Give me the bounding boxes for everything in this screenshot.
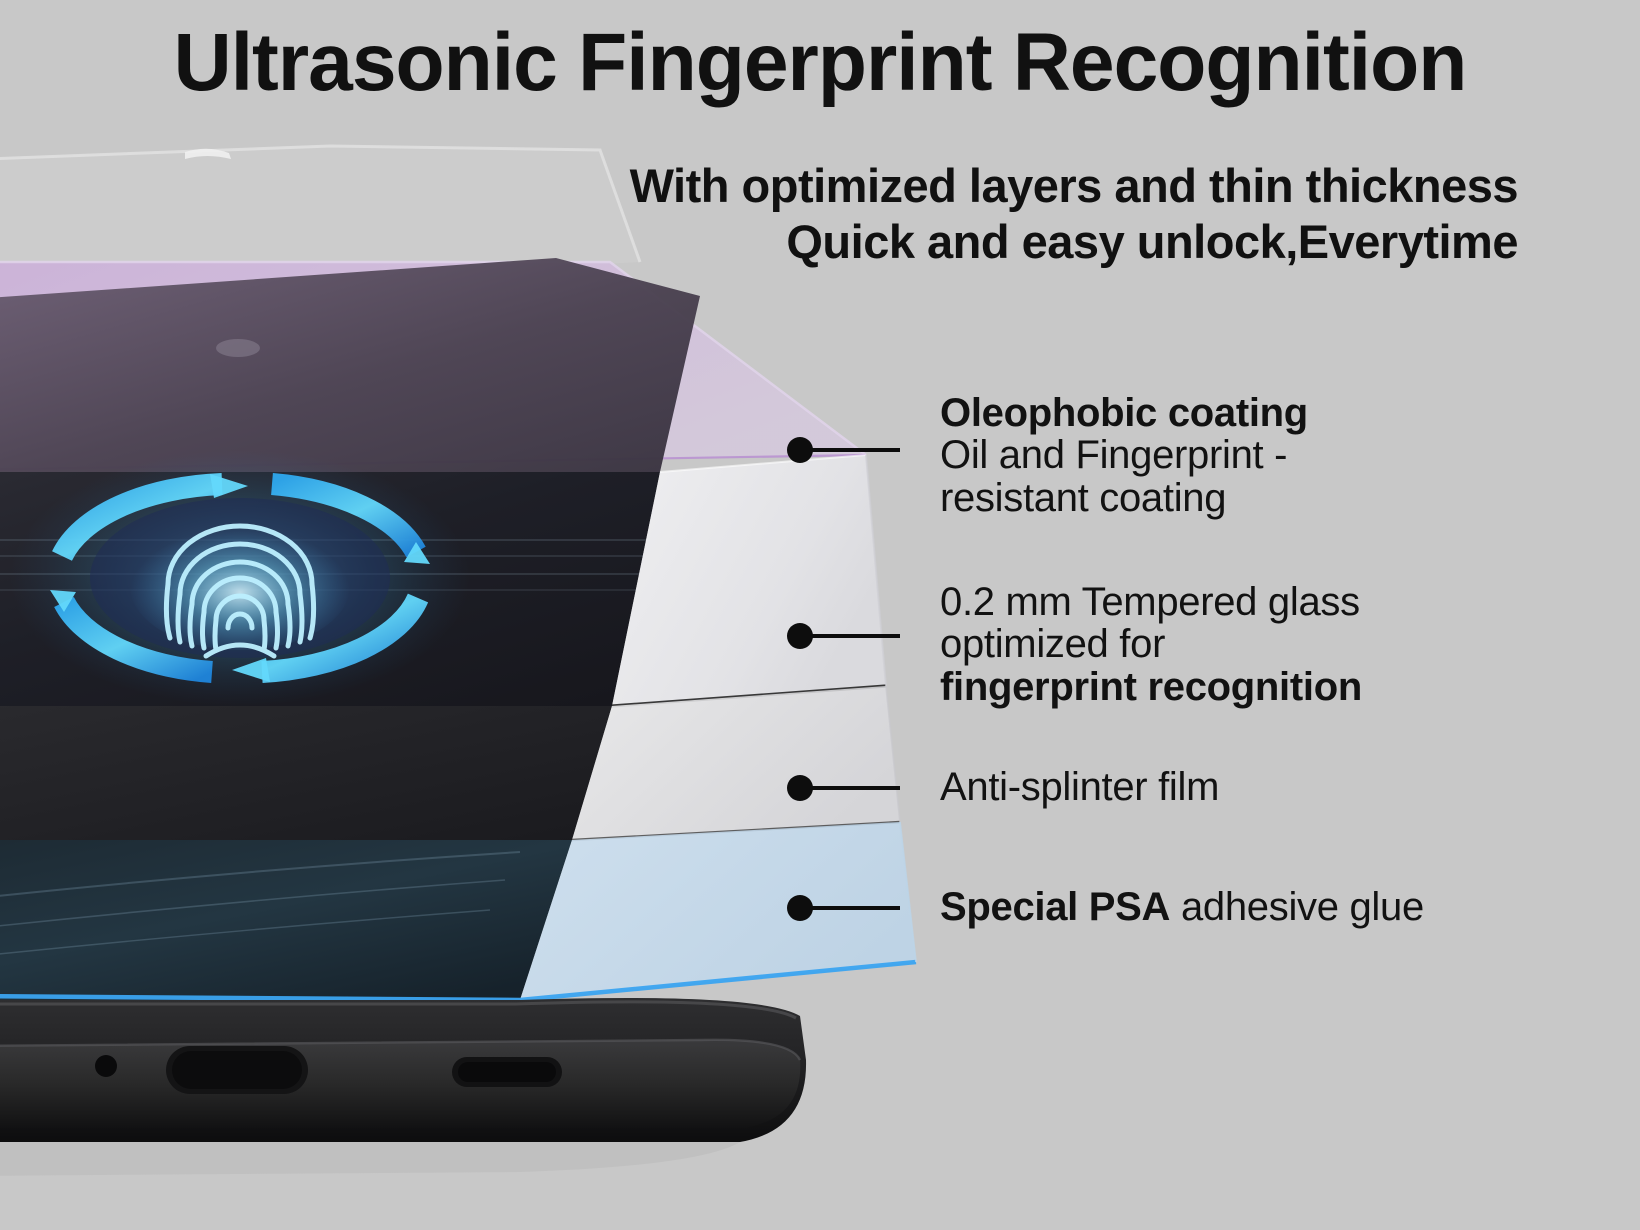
callout-detail-oleophobic-1: Oil and Fingerprint - bbox=[940, 434, 1308, 476]
callout-detail-glass-2: optimized for bbox=[940, 623, 1362, 665]
callout-text-tempered-glass: 0.2 mm Tempered glass optimized for fing… bbox=[940, 581, 1362, 708]
callout-psa-bold: Special PSA bbox=[940, 885, 1170, 929]
infographic-canvas: Ultrasonic Fingerprint Recognition With … bbox=[0, 0, 1640, 1230]
callout-psa-rest: adhesive glue bbox=[1170, 885, 1424, 929]
subtitle-line-2: Quick and easy unlock,Everytime bbox=[786, 218, 1518, 265]
callout-detail-anti-splinter-1: Anti-splinter film bbox=[940, 766, 1219, 808]
callout-line-anti-splinter bbox=[810, 786, 900, 790]
callout-heading-oleophobic: Oleophobic coating bbox=[940, 392, 1308, 434]
callout-text-anti-splinter: Anti-splinter film bbox=[940, 766, 1219, 808]
page-title: Ultrasonic Fingerprint Recognition bbox=[16, 22, 1623, 104]
callout-line-tempered-glass bbox=[810, 634, 900, 638]
subtitle-line-1: With optimized layers and thin thickness bbox=[630, 162, 1518, 209]
fingerprint-scanner-icon bbox=[10, 450, 470, 706]
callout-line-psa bbox=[810, 906, 900, 910]
callout-line-oleophobic bbox=[810, 448, 900, 452]
callout-text-oleophobic: Oleophobic coating Oil and Fingerprint -… bbox=[940, 392, 1308, 519]
microphone-hole bbox=[95, 1055, 117, 1077]
callout-detail-glass-1: 0.2 mm Tempered glass bbox=[940, 581, 1362, 623]
callout-text-psa: Special PSA adhesive glue bbox=[940, 886, 1424, 928]
callout-detail-glass-3: fingerprint recognition bbox=[940, 666, 1362, 708]
callout-detail-oleophobic-2: resistant coating bbox=[940, 477, 1308, 519]
